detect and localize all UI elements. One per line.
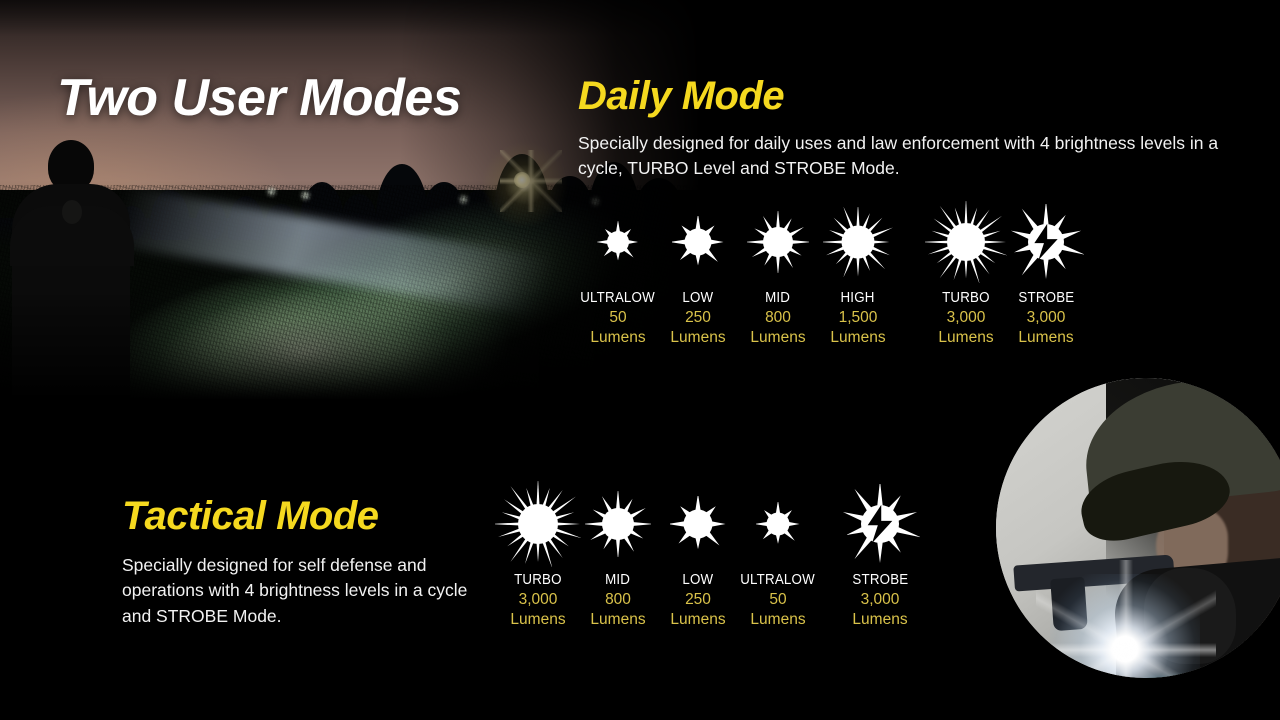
- daily-mode-title: Daily Mode: [578, 74, 1238, 119]
- level-lumen-units: Lumens: [852, 611, 907, 629]
- level-cell-mid: MID800Lumens: [578, 478, 658, 629]
- level-lumen-value: 3,000: [1027, 309, 1066, 327]
- level-lumen-units: Lumens: [670, 611, 725, 629]
- level-lumen-units: Lumens: [830, 329, 885, 347]
- sunburst-icon: [495, 478, 581, 570]
- level-cell-high: HIGH1,500Lumens: [818, 196, 898, 347]
- level-label: LOW: [683, 290, 714, 306]
- level-label: ULTRALOW: [581, 290, 656, 306]
- level-cell-ultralow: ULTRALOW50Lumens: [738, 478, 818, 629]
- level-lumen-units: Lumens: [670, 329, 725, 347]
- sunburst-icon: [756, 478, 800, 570]
- level-cell-mid: MID800Lumens: [738, 196, 818, 347]
- level-lumen-value: 250: [685, 309, 711, 327]
- level-lumen-units: Lumens: [750, 611, 805, 629]
- level-lumen-units: Lumens: [590, 611, 645, 629]
- level-lumen-units: Lumens: [590, 329, 645, 347]
- level-label: MID: [605, 572, 630, 588]
- level-lumen-value: 3,000: [861, 591, 900, 609]
- daily-mode-levels-row: ULTRALOW50LumensLOW250LumensMID800Lumens…: [578, 196, 1103, 347]
- weapon-light-flare-icon: [1036, 560, 1216, 678]
- operator-circle-photo: [996, 378, 1280, 678]
- level-cell-turbo: TURBO3,000Lumens: [926, 196, 1006, 347]
- strobe-bolt-icon: [1008, 196, 1084, 288]
- level-lumen-value: 800: [605, 591, 631, 609]
- level-lumen-units: Lumens: [510, 611, 565, 629]
- daily-mode-description: Specially designed for daily uses and la…: [578, 131, 1238, 182]
- level-lumen-units: Lumens: [938, 329, 993, 347]
- level-label: TURBO: [942, 290, 990, 306]
- tactical-mode-levels-row: TURBO3,000LumensMID800LumensLOW250Lumens…: [498, 478, 938, 629]
- page-title: Two User Modes: [57, 68, 461, 128]
- level-label: TURBO: [514, 572, 562, 588]
- level-label: LOW: [683, 572, 714, 588]
- sunburst-icon: [597, 196, 639, 288]
- level-lumen-value: 50: [769, 591, 786, 609]
- sunburst-icon: [670, 478, 726, 570]
- level-lumen-value: 250: [685, 591, 711, 609]
- sunburst-icon: [823, 196, 893, 288]
- level-lumen-value: 3,000: [947, 309, 986, 327]
- tactical-mode-block: Tactical Mode Specially designed for sel…: [122, 494, 492, 629]
- level-label: STROBE: [852, 572, 908, 588]
- sunburst-icon: [585, 478, 651, 570]
- level-label: HIGH: [841, 290, 875, 306]
- sunburst-icon: [672, 196, 724, 288]
- level-cell-turbo: TURBO3,000Lumens: [498, 478, 578, 629]
- level-lumen-value: 1,500: [839, 309, 878, 327]
- infographic-stage: Two User Modes Daily Mode Specially desi…: [0, 0, 1280, 720]
- level-cell-strobe: STROBE3,000Lumens: [840, 478, 920, 629]
- level-lumen-units: Lumens: [1018, 329, 1073, 347]
- sunburst-icon: [747, 196, 809, 288]
- sunburst-icon: [925, 196, 1007, 288]
- tactical-mode-description: Specially designed for self defense and …: [122, 553, 492, 629]
- level-cell-ultralow: ULTRALOW50Lumens: [578, 196, 658, 347]
- level-cell-low: LOW250Lumens: [658, 478, 738, 629]
- level-cell-low: LOW250Lumens: [658, 196, 738, 347]
- strobe-bolt-icon: [840, 478, 920, 570]
- daily-mode-block: Daily Mode Specially designed for daily …: [578, 74, 1238, 182]
- person-collar: [62, 200, 82, 224]
- level-lumen-value: 800: [765, 309, 791, 327]
- level-lumen-value: 50: [609, 309, 626, 327]
- level-cell-strobe: STROBE3,000Lumens: [1006, 196, 1086, 347]
- level-label: ULTRALOW: [741, 572, 816, 588]
- tactical-mode-title: Tactical Mode: [122, 494, 492, 539]
- level-label: STROBE: [1018, 290, 1074, 306]
- level-lumen-units: Lumens: [750, 329, 805, 347]
- level-lumen-value: 3,000: [519, 591, 558, 609]
- level-label: MID: [765, 290, 790, 306]
